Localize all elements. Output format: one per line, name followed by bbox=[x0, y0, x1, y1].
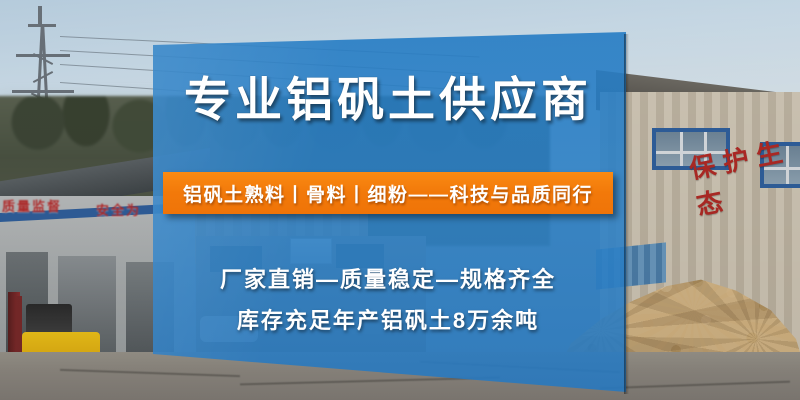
banner-headline: 专业铝矾土供应商 bbox=[150, 76, 626, 123]
banner-subline-1: 厂家直销—质量稳定—规格齐全 bbox=[150, 262, 626, 294]
promo-banner: 质量监督 安全为 保护生态 bbox=[0, 0, 800, 400]
orange-ribbon-text: 铝矾土熟料丨骨料丨细粉——科技与品质同行 bbox=[183, 180, 593, 207]
banner-subline-2: 库存充足年产铝矾土8万余吨 bbox=[150, 303, 626, 335]
orange-ribbon: 铝矾土熟料丨骨料丨细粉——科技与品质同行 bbox=[163, 172, 613, 214]
